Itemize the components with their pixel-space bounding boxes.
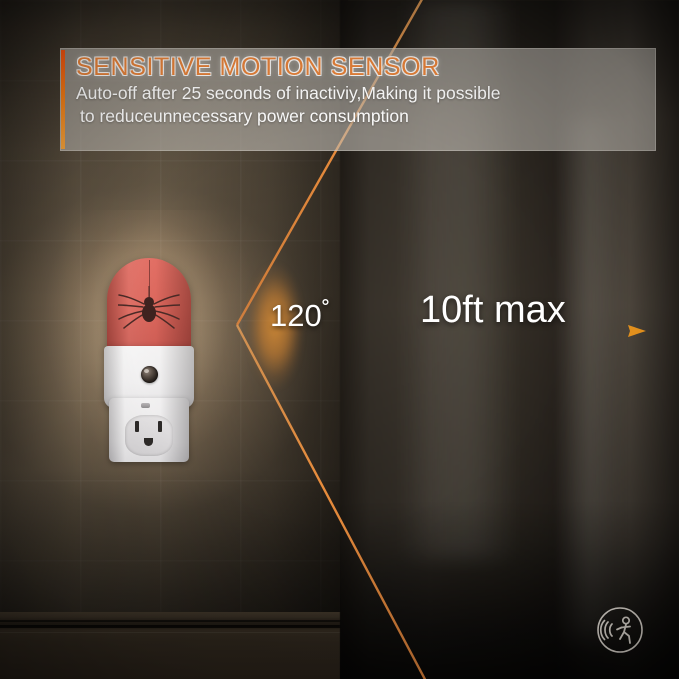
motion-detection-icon (592, 602, 648, 658)
caption-accent-bar (61, 50, 65, 149)
outlet-slot-right (158, 421, 162, 432)
motion-sensor-eye-icon (141, 366, 158, 383)
outlet-screw (141, 403, 150, 408)
detection-angle-label: 120˚ (270, 296, 330, 334)
degree-symbol: ˚ (322, 296, 331, 326)
wall-outlet-icon (125, 415, 173, 456)
spider-night-light-product (104, 258, 197, 462)
caption-line-1: Auto-off after 25 seconds of inactiviy,M… (76, 82, 646, 105)
caption-text-block: SENSITIVE MOTION SENSOR Auto-off after 2… (76, 52, 646, 128)
spider-icon (118, 286, 180, 332)
outlet-slot-left (135, 421, 139, 432)
product-feature-image: 120˚ 10ft max SENSIT (0, 0, 679, 679)
baseboard-trim (0, 612, 348, 679)
detection-distance-label: 10ft max (420, 289, 566, 332)
caption-title: SENSITIVE MOTION SENSOR (76, 52, 646, 82)
caption-line-2: to reduceunnecessary power consumption (76, 105, 646, 128)
angle-value: 120 (270, 298, 322, 333)
